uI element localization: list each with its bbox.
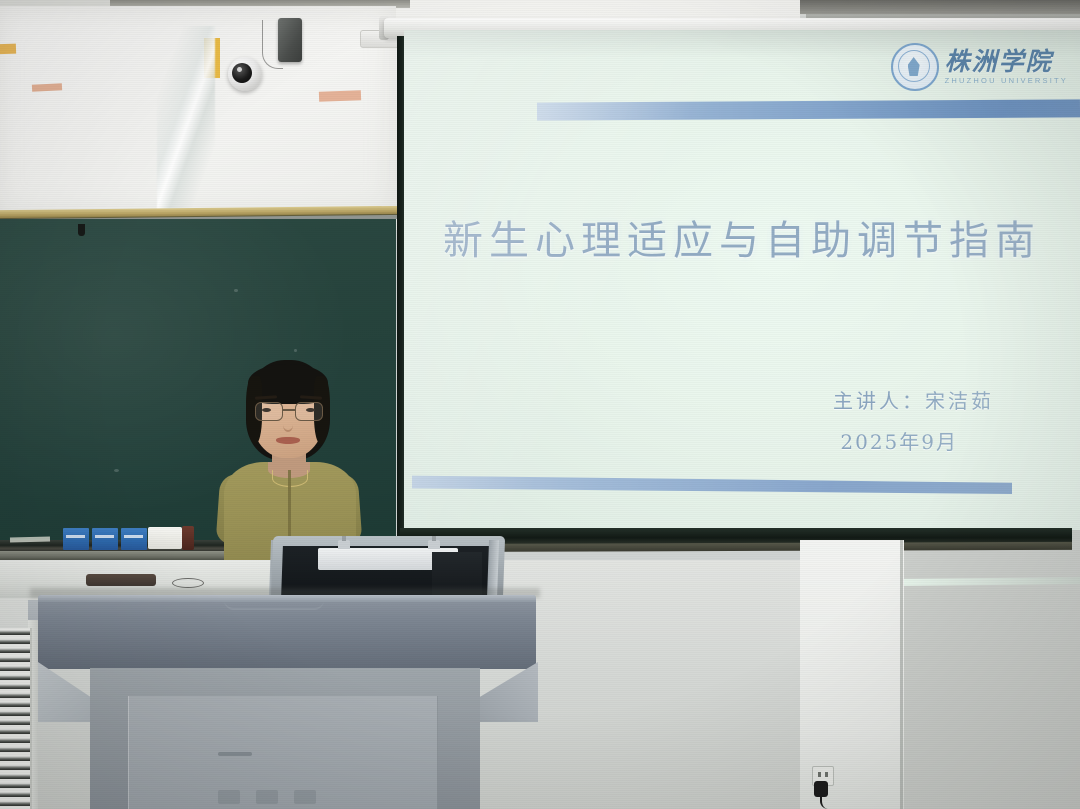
chalk-speck: [114, 469, 119, 472]
slide-title: 新生心理适应与自助调节指南: [404, 208, 1080, 266]
vent-slat: [0, 684, 30, 689]
vent-slat: [0, 666, 30, 671]
vent-slat: [0, 630, 30, 635]
chalk-box: [92, 528, 118, 550]
slide-accent-bar-top: [537, 99, 1080, 120]
wall-seam: [900, 540, 903, 809]
eyeglasses-icon: [254, 402, 322, 419]
dome-camera-lens: [232, 63, 252, 83]
power-cable: [820, 795, 831, 809]
vent-slat: [0, 729, 30, 734]
vent-slat: [0, 711, 30, 716]
logo-en-name: ZHUZHOU UNIVERSITY: [945, 77, 1068, 85]
vent-slat: [0, 675, 30, 680]
vent-slat: [0, 648, 30, 653]
chalk-speck: [294, 349, 297, 352]
eyeglass-lens-right: [295, 402, 323, 421]
lectern-front-panel: [128, 696, 438, 809]
desk-item-book: [86, 574, 156, 586]
lectern-handle-notch[interactable]: [224, 598, 324, 610]
board-eraser-dark: [182, 526, 194, 550]
vent-slat: [0, 774, 30, 779]
projected-slide: 株洲学院 ZHUZHOU UNIVERSITY 新生心理适应与自助调节指南 主讲…: [404, 30, 1080, 530]
presenter-mouth: [276, 437, 300, 444]
vent-slat: [0, 702, 30, 707]
peeling-film: [157, 26, 215, 216]
slide-accent-bar-bottom: [412, 474, 1012, 494]
eyeglass-lens-left: [255, 402, 283, 421]
slide-presenter-line: 主讲人：宋洁茹: [833, 385, 994, 414]
vent-slat: [0, 738, 30, 743]
vent-slat: [0, 639, 30, 644]
vent-slat: [0, 720, 30, 725]
lectern-clip: [428, 540, 440, 549]
university-crest-icon: [891, 43, 939, 91]
vent-slat: [0, 783, 30, 788]
vent-slat: [0, 765, 30, 770]
vent-slat: [0, 792, 30, 797]
vent-slat: [0, 801, 30, 806]
upper-white-panel: [0, 6, 396, 218]
camera-power-box: [278, 18, 302, 62]
lectern-clip: [338, 540, 350, 549]
slide-logo: 株洲学院 ZHUZHOU UNIVERSITY: [885, 38, 1074, 96]
dome-camera-glint: [237, 67, 242, 72]
tape-mark: [319, 90, 361, 101]
slide-date-line: 2025年9月: [840, 426, 958, 455]
chalk-box: [63, 528, 89, 550]
lectern-slot: [218, 752, 252, 756]
chalk-box: [121, 528, 147, 550]
eyeglass-bridge: [282, 409, 295, 411]
ceiling-beam-right: [800, 0, 1080, 14]
vent-slat: [0, 693, 30, 698]
wall-air-vent: [0, 628, 32, 809]
chalk-stick: [10, 536, 50, 542]
board-eraser: [148, 527, 182, 549]
vent-slat: [0, 756, 30, 761]
desk-item-cable: [172, 578, 204, 588]
lectern-button[interactable]: [218, 790, 240, 804]
vent-slat: [0, 747, 30, 752]
tape-mark: [32, 83, 62, 92]
tape-mark: [0, 44, 16, 55]
chalk-speck: [234, 289, 238, 292]
presenter-nose: [283, 418, 293, 432]
board-hook: [78, 224, 85, 236]
logo-text-group: 株洲学院 ZHUZHOU UNIVERSITY: [945, 49, 1068, 85]
logo-cn-name: 株洲学院: [945, 49, 1068, 74]
vent-slat: [0, 657, 30, 662]
lectern-button[interactable]: [294, 790, 316, 804]
lectern-button[interactable]: [256, 790, 278, 804]
classroom-scene: 株洲学院 ZHUZHOU UNIVERSITY 新生心理适应与自助调节指南 主讲…: [0, 0, 1080, 809]
